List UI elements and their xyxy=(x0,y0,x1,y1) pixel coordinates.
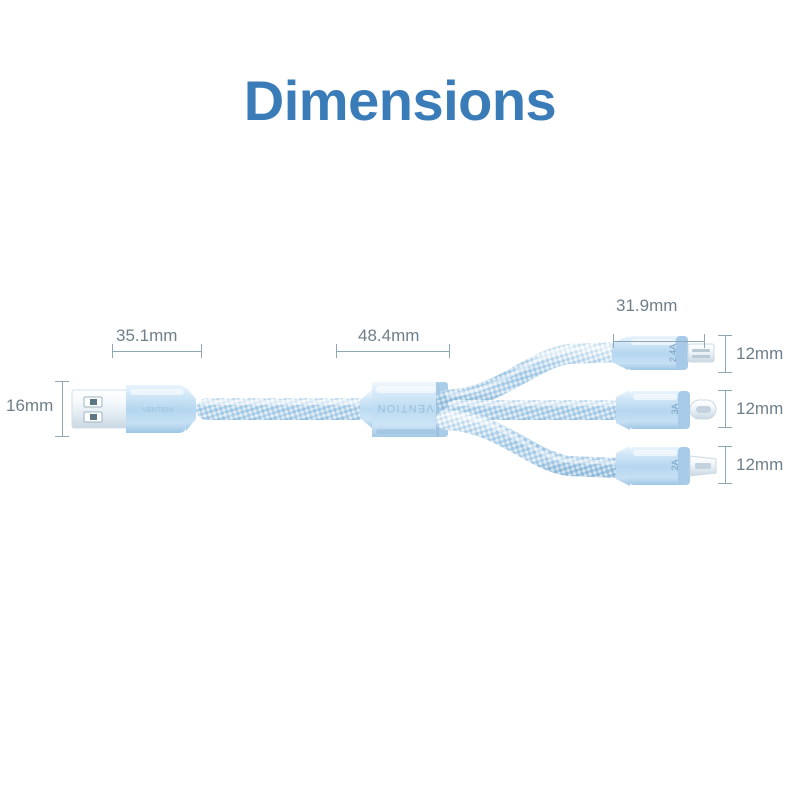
dimension-cap-top xyxy=(718,390,732,391)
dimension-cap-top xyxy=(718,446,732,447)
dimension-line-tip-length xyxy=(613,334,705,348)
dimension-cap-bottom xyxy=(55,436,69,437)
dimension-tick-left xyxy=(112,344,113,358)
dimension-line-usb-a-width xyxy=(55,381,69,437)
dimension-line-micro-usb-width xyxy=(718,446,732,484)
dimension-cap-bottom xyxy=(718,483,732,484)
main-cable-braid xyxy=(196,398,368,420)
usb-a-connector: VENTION xyxy=(72,385,196,433)
output-cable-bottom xyxy=(446,415,620,468)
dimensions-page: Dimensions xyxy=(0,0,800,800)
dimension-tick-left xyxy=(336,344,337,358)
dimension-bar xyxy=(112,351,202,352)
dimension-bar xyxy=(613,341,705,342)
dimension-label-usb-c-width: 12mm xyxy=(736,399,783,419)
dimension-cap-top xyxy=(55,381,69,382)
output-cable-top xyxy=(446,347,620,400)
dimension-bar xyxy=(725,335,726,373)
dimension-cap-bottom xyxy=(718,427,732,428)
dimension-bar xyxy=(336,351,450,352)
dimension-label-lightning-width: 12mm xyxy=(736,344,783,364)
dimension-line-usb-c-width xyxy=(718,390,732,428)
dimension-label-usb-a-width: 16mm xyxy=(6,396,53,416)
usb-c-current-rating: 3A xyxy=(670,403,680,414)
page-title: Dimensions xyxy=(0,68,800,133)
dimension-bar xyxy=(725,446,726,484)
dimension-tick-left xyxy=(613,334,614,348)
output-cable-middle xyxy=(446,400,624,420)
dimension-tick-right xyxy=(201,344,202,358)
dimension-label-hub-length: 48.4mm xyxy=(358,326,419,346)
usb-c-connector: 3A xyxy=(616,390,716,430)
dimension-label-micro-usb-width: 12mm xyxy=(736,455,783,475)
hub-brand-text: VENTION xyxy=(376,402,433,414)
dimension-bar xyxy=(725,390,726,428)
dimension-cap-bottom xyxy=(718,372,732,373)
micro-usb-current-rating: 2A xyxy=(670,459,680,470)
splitter-hub: VENTION xyxy=(360,382,448,437)
dimension-label-tip-length: 31.9mm xyxy=(616,296,677,316)
dimension-line-lightning-width xyxy=(718,335,732,373)
dimension-line-hub-length xyxy=(336,344,450,358)
dimension-bar xyxy=(62,381,63,437)
dimension-tick-right xyxy=(449,344,450,358)
micro-usb-connector: 2A xyxy=(616,446,716,486)
dimension-tick-right xyxy=(704,334,705,348)
usb-a-brand-mark: VENTION xyxy=(142,407,173,414)
dimension-line-usb-a-length xyxy=(112,344,202,358)
dimension-label-usb-a-length: 35.1mm xyxy=(116,326,177,346)
dimension-cap-top xyxy=(718,335,732,336)
